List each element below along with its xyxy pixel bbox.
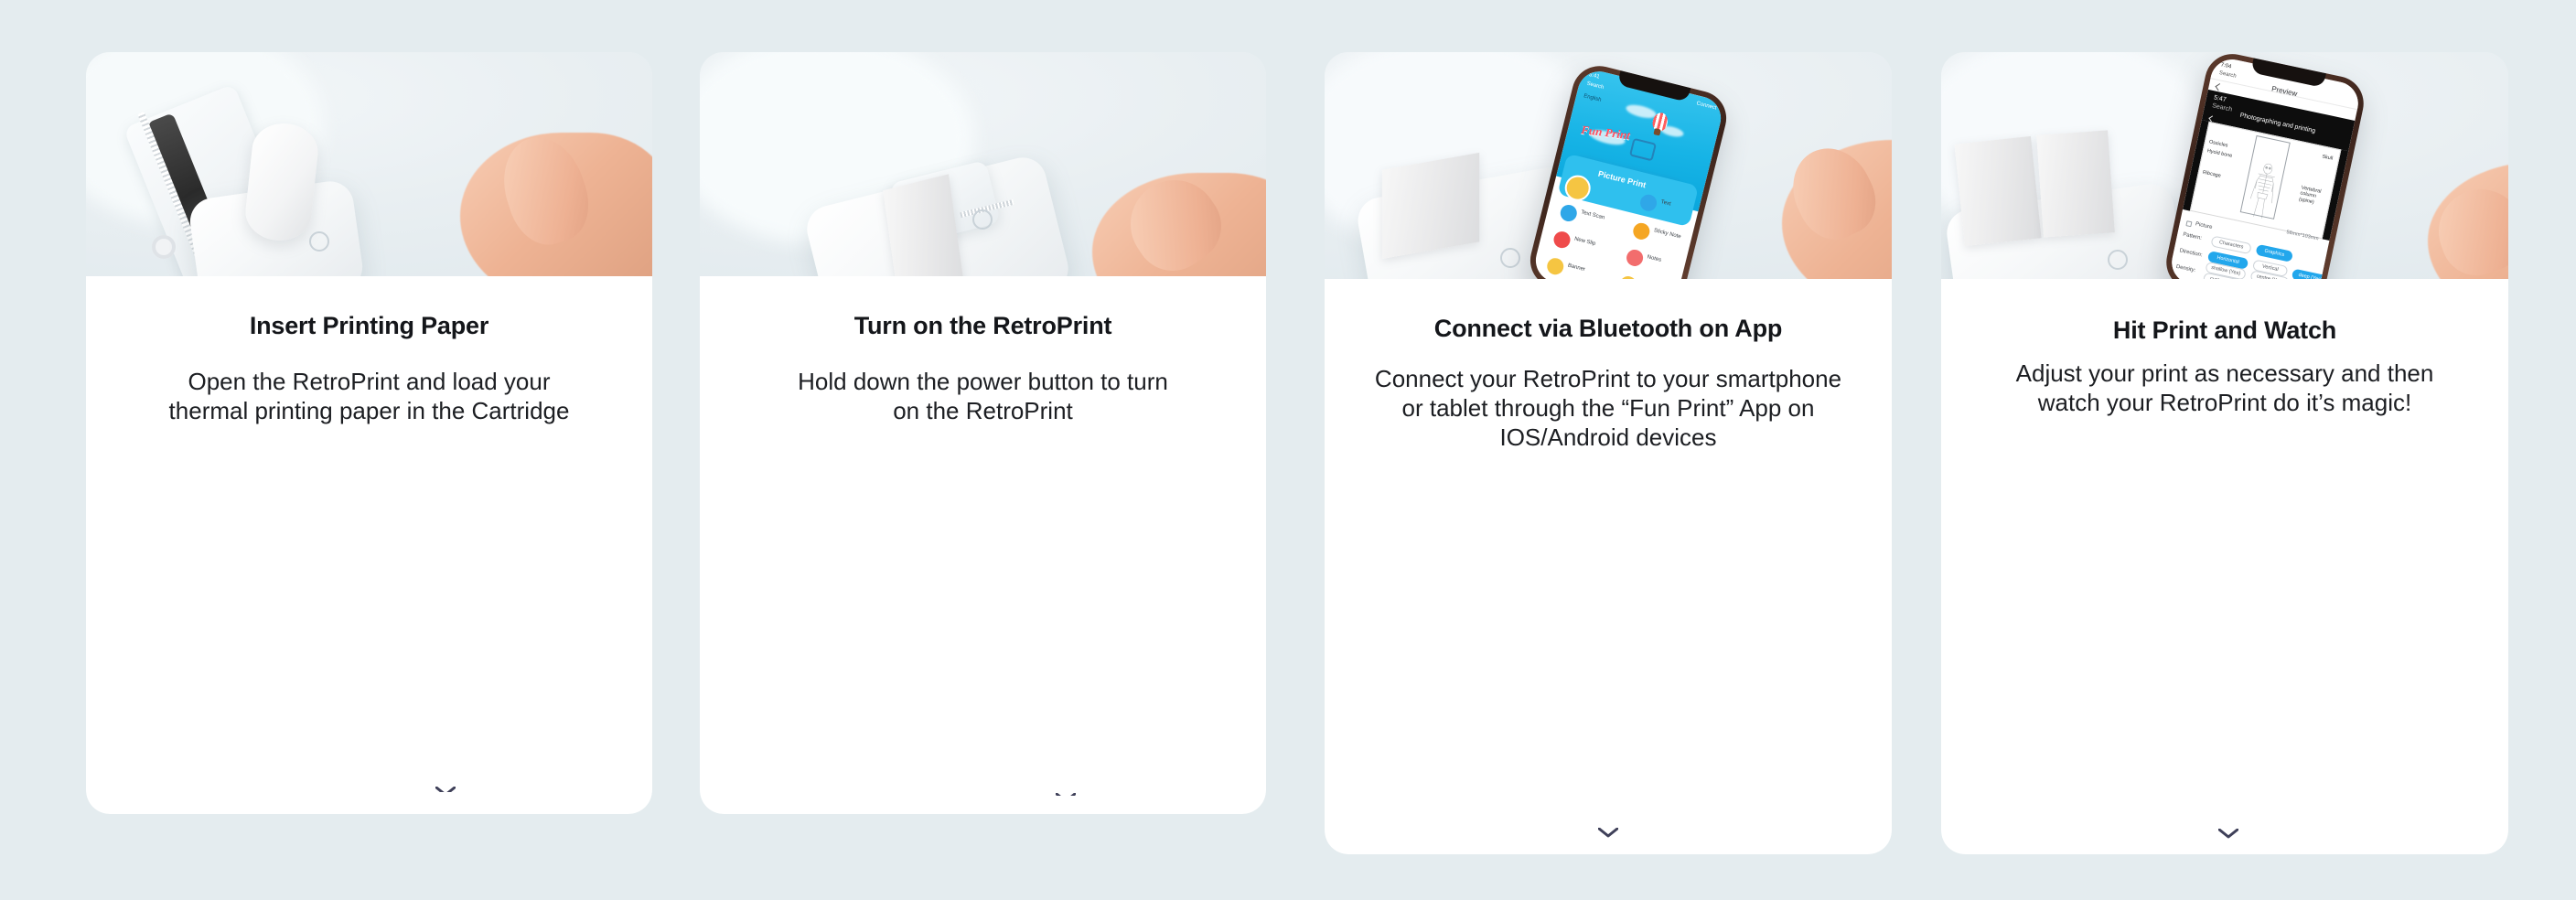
menu-icon-text-scan[interactable] — [1559, 203, 1579, 223]
bluetooth-app-scene: 5:41 Search English Connect Fun Print Pi… — [1325, 52, 1892, 279]
picture-label: Picture — [2195, 221, 2213, 230]
step-image-3: 5:41 Search English Connect Fun Print Pi… — [1325, 52, 1892, 279]
step-title-2: Turn on the RetroPrint — [700, 311, 1266, 340]
back-chevron-icon[interactable] — [2216, 83, 2223, 91]
chevron-down-icon[interactable] — [435, 787, 456, 792]
step-body-3: Connect your RetroPrint to your smartpho… — [1361, 365, 1855, 452]
chevron-down-icon[interactable] — [1056, 793, 1076, 796]
app-status-back: Search — [1586, 81, 1605, 91]
menu-icon-banner[interactable] — [1545, 256, 1565, 276]
printer-paper-insert-scene — [86, 52, 652, 276]
diagram-label-ossicles: Ossicles — [2208, 139, 2228, 148]
steps-carousel: Insert Printing Paper Open the RetroPrin… — [0, 0, 2576, 900]
app-status-time: 5:41 — [1588, 72, 1600, 80]
menu-icon-sticky-note[interactable] — [1631, 221, 1651, 241]
step-title-3: Connect via Bluetooth on App — [1325, 314, 1892, 343]
step-text-panel-1: Insert Printing Paper Open the RetroPrin… — [86, 276, 652, 814]
chevron-down-icon[interactable] — [1598, 828, 1618, 838]
diagram-label-ribcage: Ribcage — [2202, 170, 2221, 179]
diagram-label-hyoid-bone: Hyoid bone — [2206, 148, 2232, 159]
preview-app-screen: 7:04 Search Preview 5:47 Search Photogra… — [2168, 56, 2362, 279]
step-title-4: Hit Print and Watch — [1941, 316, 2508, 345]
diagram-label-vertebral-column: Vertebral column (spine) — [2298, 185, 2328, 208]
step-text-panel-3: Connect via Bluetooth on App Connect you… — [1325, 279, 1892, 854]
density-option-deep[interactable]: deep (Yes) — [2292, 269, 2330, 279]
step-title-1: Insert Printing Paper — [86, 311, 652, 340]
step-image-1 — [86, 52, 652, 276]
pattern-option-graphics[interactable]: Graphics — [2255, 244, 2293, 262]
menu-icon-notes[interactable] — [1625, 248, 1645, 268]
app-connect-label[interactable]: Connect — [1696, 101, 1717, 111]
direction-label: Direction: — [2179, 248, 2203, 258]
step-image-4: 7:04 Search Preview 5:47 Search Photogra… — [1941, 52, 2508, 279]
print-preview-scene: 7:04 Search Preview 5:47 Search Photogra… — [1941, 52, 2508, 279]
menu-label-notes: Notes — [1647, 254, 1662, 263]
density-label: Density: — [2175, 264, 2195, 273]
step-body-1: Open the RetroPrint and load your therma… — [155, 368, 585, 425]
step-text-panel-4: Hit Print and Watch Adjust your print as… — [1941, 279, 2508, 854]
step-card-4[interactable]: 7:04 Search Preview 5:47 Search Photogra… — [1941, 52, 2508, 854]
printer-power-on-scene — [700, 52, 1266, 276]
step-body-4: Adjust your print as necessary and then … — [2010, 359, 2440, 417]
step-card-1[interactable]: Insert Printing Paper Open the RetroPrin… — [86, 52, 652, 814]
smartphone-preview: 7:04 Search Preview 5:47 Search Photogra… — [2162, 52, 2369, 279]
menu-label-text-scan: Text Scan — [1581, 209, 1605, 220]
app-logo: Fun Print — [1580, 123, 1630, 143]
step-text-panel-2: Turn on the RetroPrint Hold down the pow… — [700, 276, 1266, 814]
step-card-2[interactable]: Turn on the RetroPrint Hold down the pow… — [700, 52, 1266, 814]
step-card-3[interactable]: 5:41 Search English Connect Fun Print Pi… — [1325, 52, 1892, 854]
step-image-2 — [700, 52, 1266, 276]
diagram-label-skull: Skull — [2322, 154, 2334, 161]
menu-label-new-slip: New Slip — [1573, 236, 1595, 247]
step-body-2: Hold down the power button to turn on th… — [787, 368, 1180, 425]
menu-label-sticky-note: Sticky Note — [1653, 228, 1681, 240]
app-language-label[interactable]: English — [1583, 93, 1602, 103]
menu-icon-new-slip[interactable] — [1552, 230, 1572, 250]
chevron-down-icon[interactable] — [2218, 829, 2238, 839]
pattern-label: Pattern: — [2183, 232, 2203, 241]
menu-label-banner: Banner — [1567, 263, 1585, 273]
picture-checkbox[interactable] — [2185, 220, 2192, 227]
